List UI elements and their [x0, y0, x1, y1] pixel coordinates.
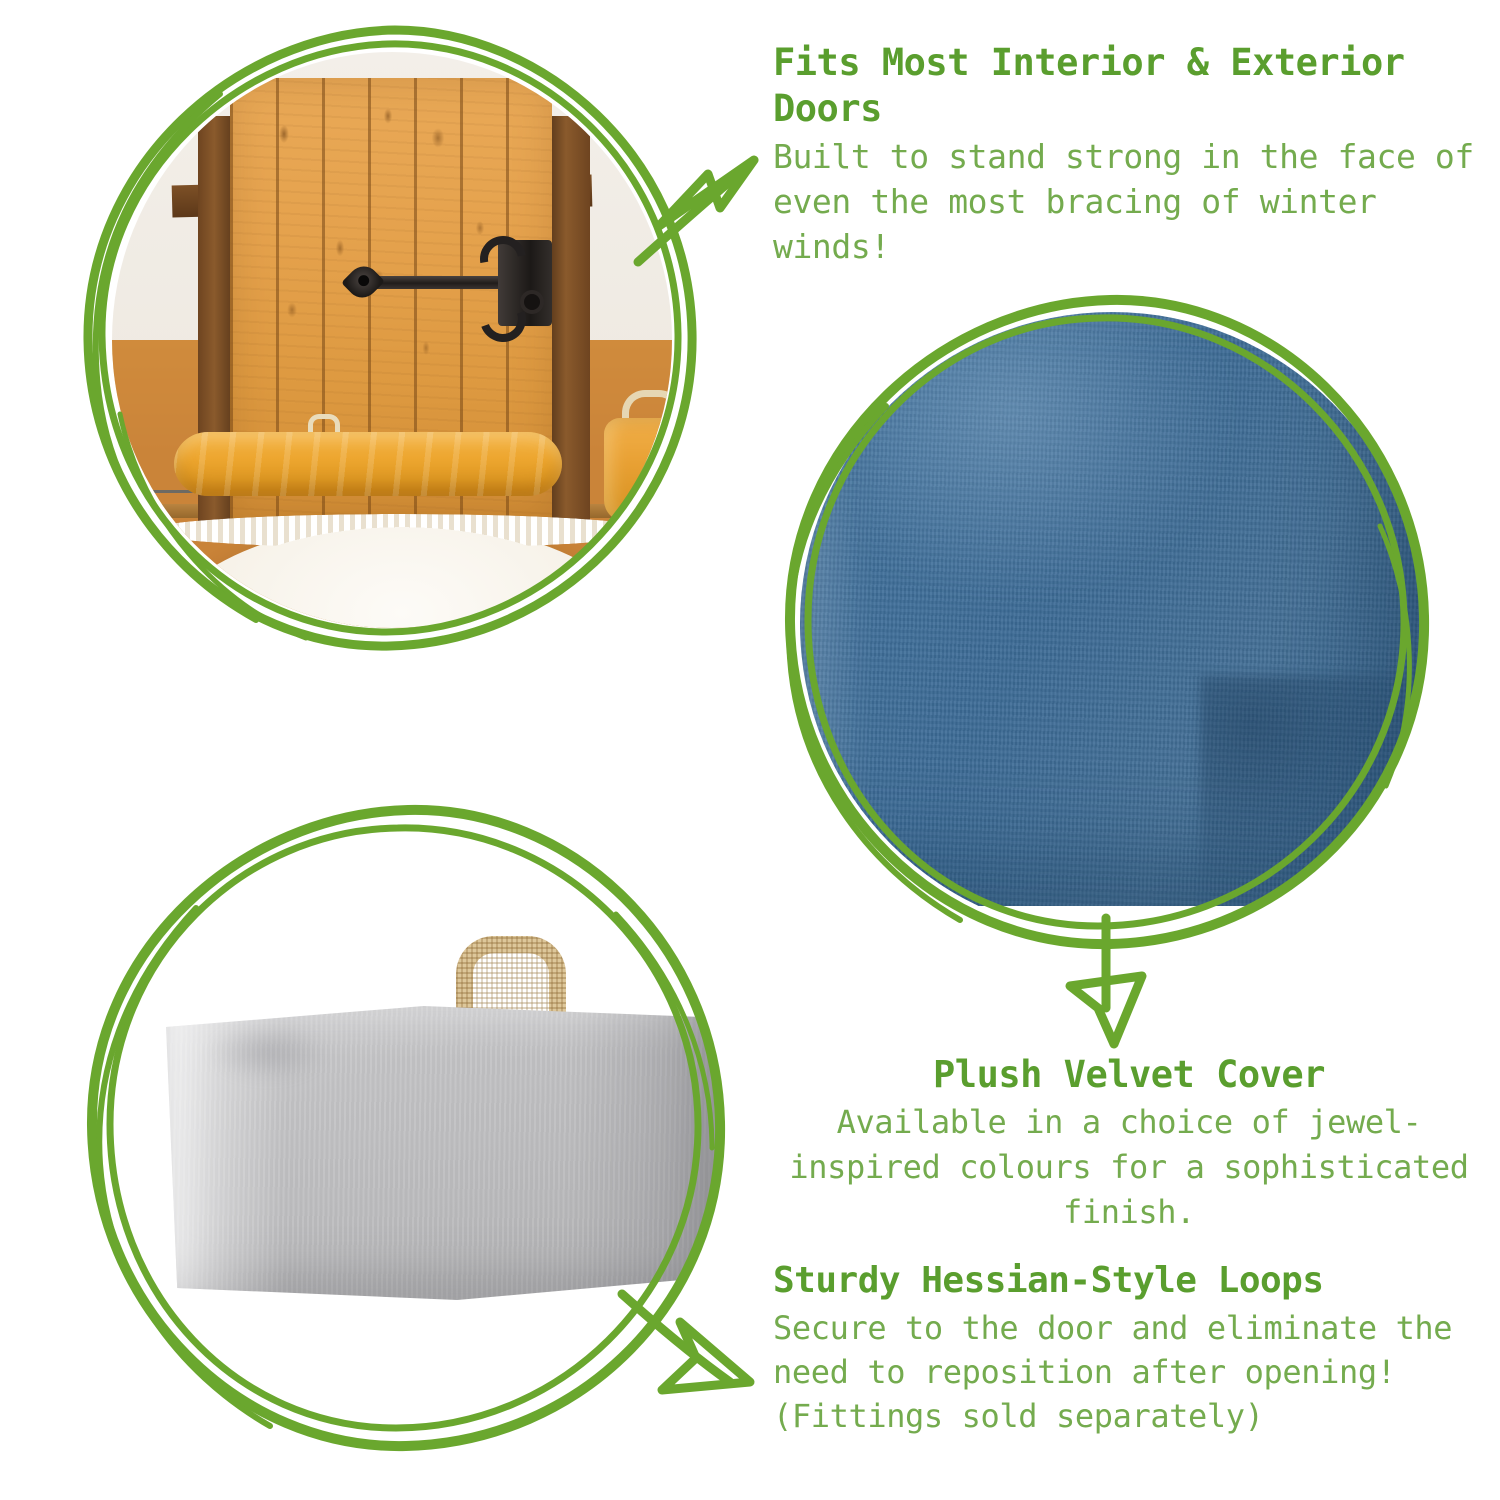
mustard-draught-excluder: [174, 432, 562, 496]
feature-block-plush-velvet: Plush Velvet Cover Available in a choice…: [773, 1052, 1485, 1235]
grey-shadow-right: [576, 1000, 718, 1300]
feature-body-fits-doors: Built to stand strong in the face of eve…: [773, 134, 1485, 269]
hinge-knob: [524, 294, 540, 310]
blue-velvet-cushion: [800, 312, 1424, 906]
arrow-to-plush-velvet-icon: [1040, 916, 1170, 1056]
feature-heading-plush-velvet: Plush Velvet Cover: [773, 1052, 1485, 1098]
photo-grey-velvet: [108, 828, 718, 1438]
feature-block-hessian-loops: Sturdy Hessian-Style Loops Secure to the…: [773, 1258, 1485, 1438]
feature-body-plush-velvet: Available in a choice of jewel-inspired …: [773, 1100, 1485, 1235]
photo-door-scene: [112, 52, 672, 628]
upright-mustard-excluder: [604, 418, 672, 522]
iron-hinge-icon: [348, 240, 554, 326]
feature-heading-hessian-loops: Sturdy Hessian-Style Loops: [773, 1258, 1485, 1304]
infographic-canvas: Fits Most Interior & Exterior Doors Buil…: [0, 0, 1500, 1500]
grey-velvet-cushion: [166, 1000, 718, 1300]
round-white-rug: [152, 522, 652, 628]
feature-heading-fits-doors: Fits Most Interior & Exterior Doors: [773, 40, 1485, 132]
photo-blue-velvet: [800, 312, 1424, 936]
grey-fabric-dent: [208, 1022, 328, 1082]
velvet-sheen: [860, 312, 1240, 606]
feature-block-fits-doors: Fits Most Interior & Exterior Doors Buil…: [773, 40, 1485, 269]
velvet-corner-shadow: [1200, 676, 1424, 916]
hinge-tip: [341, 260, 385, 304]
feature-body-hessian-loops: Secure to the door and eliminate the nee…: [773, 1306, 1485, 1438]
